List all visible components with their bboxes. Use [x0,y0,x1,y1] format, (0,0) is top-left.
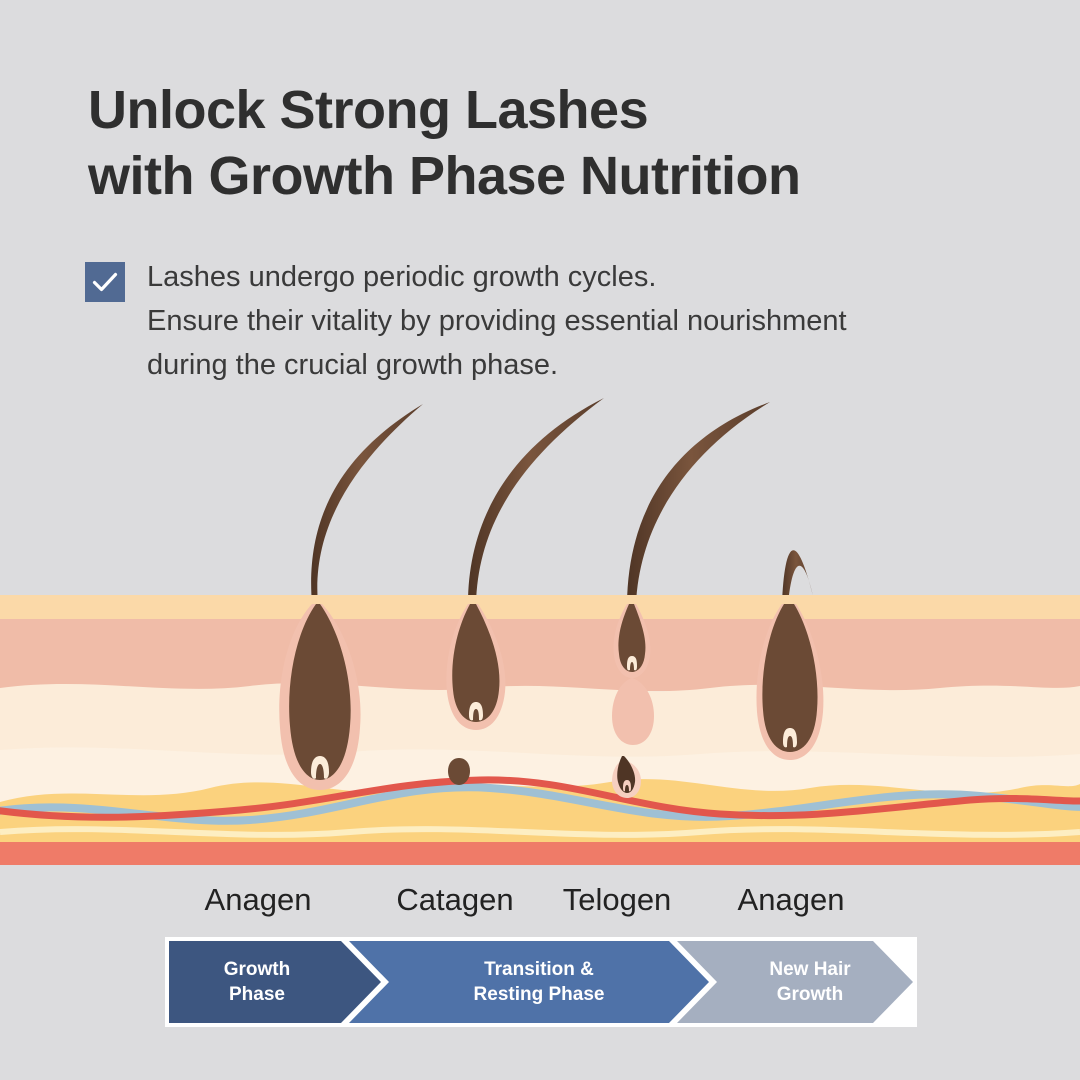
epidermis-top-strip [0,595,1080,619]
epidermis-layer [0,619,1080,691]
check-icon [85,262,125,302]
body-text: Lashes undergo periodic growth cycles. E… [147,255,937,387]
phase-label-anagen-1: Anagen [205,882,312,918]
muscle-base-layer [0,842,1080,865]
growth-phase-banner: Growth Phase Transition & Resting Phase … [165,937,917,1027]
phase-label-row: Anagen Catagen Telogen Anagen [0,882,1080,924]
phase-label-telogen: Telogen [563,882,672,918]
page-title: Unlock Strong Lashes with Growth Phase N… [88,78,988,210]
hair-follicle-growth-cycle-diagram [0,390,1080,865]
dermal-papilla-catagen [448,758,470,785]
phase-label-anagen-2: Anagen [738,882,845,918]
infographic-page: Unlock Strong Lashes with Growth Phase N… [0,0,1080,1080]
chevron-label-transition-resting: Transition & Resting Phase [474,957,605,1007]
chevron-label-growth-phase: Growth Phase [224,957,291,1007]
phase-label-catagen: Catagen [396,882,513,918]
chevron-label-new-hair-growth: New Hair Growth [769,957,850,1007]
